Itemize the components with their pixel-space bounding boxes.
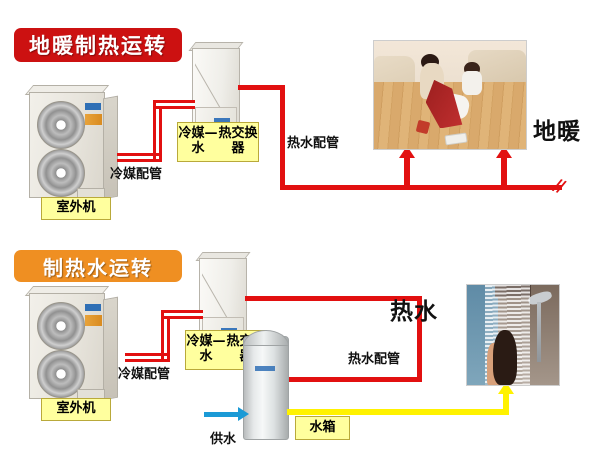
hot-water-pipe-bottom <box>280 185 562 190</box>
outdoor-unit-1 <box>29 92 117 204</box>
label-hot-water-destination: 热水 <box>390 292 438 326</box>
tank-outlet-pipe-horizontal <box>287 409 509 415</box>
outdoor-unit-side <box>103 96 118 200</box>
label-hot-water-piping-2: 热水配管 <box>348 348 400 367</box>
label-band <box>85 315 102 326</box>
hx-line-2: 热交换器 <box>218 127 258 156</box>
fan-icon <box>37 101 85 149</box>
label-outdoor-unit-1: 室外机 <box>41 197 111 220</box>
photo-floor-heating <box>373 40 527 150</box>
water-tank <box>243 330 287 438</box>
hot-water-pipe-top <box>238 85 285 90</box>
refrigerant-pipe-vertical-inner <box>159 106 162 162</box>
diagram-canvas: 地暖制热运转 室外机 冷媒—水 热交换器 冷媒配管 <box>0 0 600 449</box>
photo-person-hair <box>493 330 517 385</box>
pipe-break-symbol: // <box>551 175 566 197</box>
outdoor-unit-side <box>103 297 118 401</box>
label-hot-water-piping-1: 热水配管 <box>287 132 339 151</box>
photo-child-body <box>462 71 482 95</box>
hot-water-pipe-to-tank <box>285 377 422 382</box>
hx-line-1: 冷媒—水 <box>186 335 226 364</box>
photo-shower-hose <box>537 302 541 362</box>
label-water-supply: 供水 <box>210 428 236 447</box>
refrigerant-pipe-vertical-inner <box>167 316 170 362</box>
fan-icon <box>37 302 85 350</box>
photo-toy-block <box>415 120 430 134</box>
label-band <box>85 114 102 125</box>
floor-heating-riser-2 <box>501 155 507 187</box>
outdoor-unit-2 <box>29 293 117 405</box>
cold-water-supply-pipe <box>204 412 240 417</box>
label-outdoor-unit-2: 室外机 <box>41 398 111 421</box>
section-header-hot-water: 制热水运转 <box>14 250 182 282</box>
refrigerant-pipe-to-outdoor-upper <box>125 353 167 356</box>
brand-logo <box>85 103 101 110</box>
section-header-floor-heating: 地暖制热运转 <box>14 28 182 62</box>
brand-logo <box>85 304 101 311</box>
brand-logo <box>255 366 275 371</box>
water-tank-cap <box>243 330 289 346</box>
label-refrigerant-piping-2: 冷媒配管 <box>118 363 170 382</box>
hot-water-pipe-down <box>280 85 285 190</box>
floor-heating-riser-1 <box>404 155 410 187</box>
hx-line-1: 冷媒—水 <box>178 127 218 156</box>
arrow-right-icon <box>238 407 249 421</box>
water-tank-body <box>243 336 289 440</box>
refrigerant-pipe-to-outdoor-lower <box>125 359 170 362</box>
label-water-tank: 水箱 <box>295 416 350 440</box>
outdoor-unit-body <box>29 293 105 399</box>
refrigerant-pipe-to-outdoor-upper <box>117 153 159 156</box>
label-floor-heating-destination: 地暖 <box>533 112 581 146</box>
refrigerant-pipe-to-outdoor-lower <box>117 159 162 162</box>
label-refrigerant-piping-1: 冷媒配管 <box>110 163 162 182</box>
outdoor-unit-body <box>29 92 105 198</box>
photo-shower <box>466 284 560 386</box>
label-heat-exchanger-1: 冷媒—水 热交换器 <box>177 122 259 162</box>
